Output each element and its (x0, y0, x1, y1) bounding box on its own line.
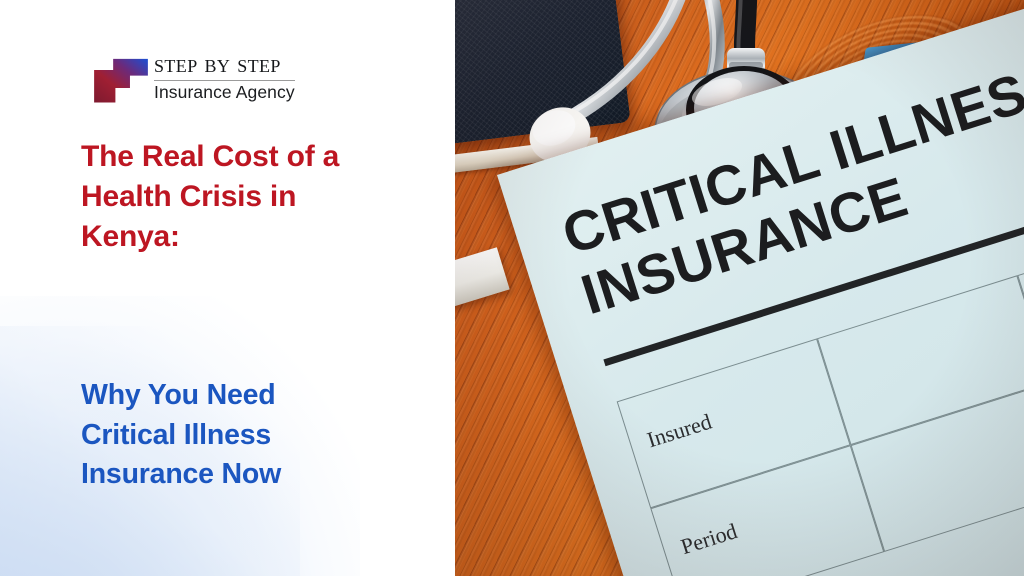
brand-name: Step By Step (154, 51, 295, 81)
subheading-line-1: Why You Need (81, 376, 401, 416)
brand-logo-text: Step By Step Insurance Agency (154, 51, 295, 102)
headline-line-3: Kenya: (81, 217, 401, 257)
brand-logo[interactable]: Step By Step Insurance Agency (93, 49, 295, 107)
left-text-panel: Step By Step Insurance Agency The Real C… (0, 0, 455, 576)
navy-notebook (455, 0, 631, 145)
headline-line-2: Health Crisis in (81, 177, 401, 217)
subheading-line-2: Critical Illness (81, 416, 401, 456)
headline: The Real Cost of a Health Crisis in Keny… (81, 137, 401, 257)
hero-photo: CRITICAL ILLNESS INSURANCE Insured Perio… (455, 0, 1024, 576)
step-staircase-logomark (93, 51, 149, 107)
promo-banner: Step By Step Insurance Agency The Real C… (0, 0, 1024, 576)
brand-tagline: Insurance Agency (154, 81, 295, 102)
subheading-line-3: Insurance Now (81, 455, 401, 495)
headline-line-1: The Real Cost of a (81, 137, 401, 177)
subheading: Why You Need Critical Illness Insurance … (81, 376, 401, 495)
